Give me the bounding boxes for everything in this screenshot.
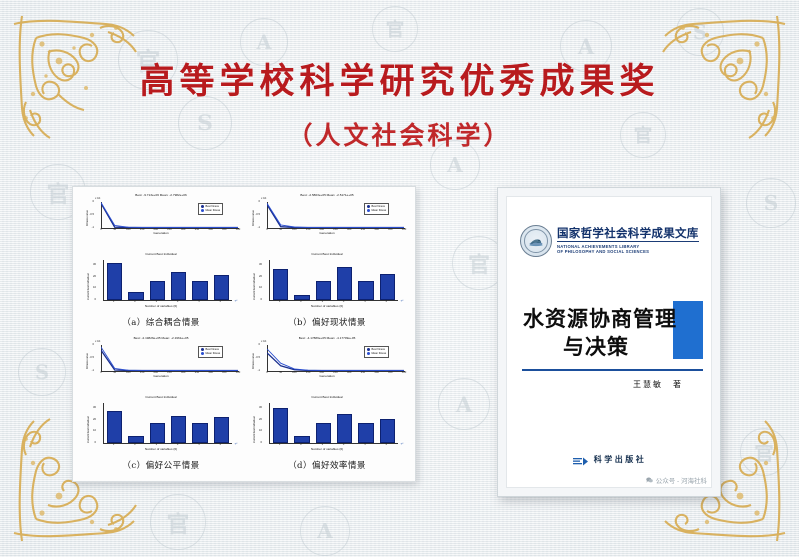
bar-x-axis-tick: 2: [134, 301, 136, 304]
bar-chart-title: Current Best Individual: [81, 253, 241, 256]
bar-x-axis-tick: 2: [300, 444, 302, 447]
background-seal-icon: S: [746, 178, 796, 228]
bar-y-axis-label: Current best individual: [253, 416, 256, 443]
paragraph-mark-icon: ↵: [401, 298, 404, 303]
bar-plot-area: [103, 260, 232, 301]
x-axis-label: Generation: [81, 375, 241, 379]
legend-item: Mean fitness: [367, 209, 386, 213]
book-author: 王慧敏 著: [633, 379, 683, 390]
bar-chart-title: Current Best Individual: [81, 396, 241, 399]
bar-x-axis-tick: 6: [386, 301, 388, 304]
bar-y-axis-label: Current best individual: [87, 273, 90, 300]
page-title: 高等学校科学研究优秀成果奖: [0, 62, 799, 102]
background-seal-icon: S: [676, 8, 724, 56]
y-axis-tick: -1: [258, 370, 260, 373]
chart-legend: Best fitnessMean fitness: [364, 346, 389, 358]
bar-x-axis-tick: 1: [279, 444, 281, 447]
bar-y-axis-tick: 30: [93, 407, 96, 410]
bar: [337, 414, 352, 443]
bar: [171, 272, 186, 300]
bar-x-axis-tick: 1: [279, 301, 281, 304]
figure-grid: Best: -9.713e+06 Mean: -2.7982e+06x 10⁷0…: [78, 191, 410, 477]
bar-y-axis-tick: 0: [261, 442, 263, 445]
publisher-row: 科学出版社: [507, 454, 711, 465]
book-title-line2: 与决策: [523, 333, 695, 361]
bar-x-axis-tick: 5: [198, 444, 200, 447]
background-seal-icon: 官: [740, 428, 788, 476]
paragraph-mark-icon: ↵: [235, 441, 238, 446]
axis-exponent: x 10⁷: [95, 197, 101, 200]
figure-cell: Best: -4.17889e+05 Mean: -4.17709e+05x 1…: [244, 334, 410, 477]
bar-y-axis-tick: 30: [259, 407, 262, 410]
bar-y-axis-tick: 30: [259, 264, 262, 267]
bar: [150, 281, 165, 300]
best-individual-bar-chart: Current Best Individual0102030123456Curr…: [81, 396, 241, 458]
legend-label: Mean fitness: [372, 352, 387, 356]
background-seal-icon: A: [240, 18, 288, 66]
watermark-text: 公众号 - 河海社科: [656, 475, 707, 485]
bar-x-axis-tick: 5: [364, 444, 366, 447]
convergence-chart-title: Best: -9.713e+06 Mean: -2.7982e+06: [81, 194, 241, 197]
bar: [273, 408, 288, 443]
book-title-underline: [522, 369, 703, 371]
bar: [358, 423, 373, 443]
y-axis-tick: -1: [258, 227, 260, 230]
series-divider: [557, 241, 699, 242]
award-slide: 官SA官AS官A官S官AS官A官: [0, 0, 799, 557]
background-seal-icon: A: [438, 378, 490, 430]
y-axis-label: Fitness value: [86, 210, 89, 226]
y-axis-tick: -0.5: [89, 357, 94, 360]
publisher-name: 科学出版社: [594, 454, 647, 465]
convergence-chart-title: Best: -2.19826e+05 Mean: -2.1961e+05: [81, 337, 241, 340]
legend-marker-icon: [201, 209, 204, 212]
y-axis-tick: 0: [93, 201, 95, 204]
bar: [107, 411, 122, 443]
axis-exponent: x 10⁷: [261, 340, 267, 343]
legend-item: Mean fitness: [201, 209, 220, 213]
bar-plot-area: [269, 260, 398, 301]
y-axis-tick: -0.5: [255, 357, 260, 360]
bar-x-axis-tick: 4: [177, 301, 179, 304]
convergence-chart: Best: -9.713e+06 Mean: -2.7982e+06x 10⁷0…: [81, 193, 241, 253]
bar: [192, 281, 207, 300]
background-seal-icon: S: [18, 348, 66, 396]
y-axis-label: Fitness value: [252, 353, 255, 369]
bar: [380, 274, 395, 300]
bar-chart-title: Current Best Individual: [247, 396, 407, 399]
bar-y-axis-tick: 10: [259, 430, 262, 433]
axis-exponent: x 10⁷: [261, 197, 267, 200]
x-axis-label: Generation: [247, 375, 407, 379]
bar-x-axis-tick: 1: [113, 301, 115, 304]
best-individual-bar-chart: Current Best Individual0102030123456Curr…: [81, 253, 241, 315]
convergence-chart: Best: -2.5803e+05 Mean: -2.5171e+05x 10⁷…: [247, 193, 407, 253]
y-axis-label: Fitness value: [252, 210, 255, 226]
figure-cell: Best: -2.5803e+05 Mean: -2.5171e+05x 10⁷…: [244, 191, 410, 334]
y-axis-tick: 0: [259, 201, 261, 204]
figure-panel: Best: -9.713e+06 Mean: -2.7982e+06x 10⁷0…: [72, 186, 416, 482]
figure-cell: Best: -9.713e+06 Mean: -2.7982e+06x 10⁷0…: [78, 191, 244, 334]
bar: [128, 292, 143, 300]
figure-caption: （b）偏好现状情景: [247, 316, 407, 328]
legend-marker-icon: [201, 352, 204, 355]
bar-y-axis-tick: 10: [93, 430, 96, 433]
bar: [273, 269, 288, 300]
paragraph-mark-icon: ↵: [235, 298, 238, 303]
series-emblem-row: 国家哲学社会科学成果文库 NATIONAL ACHIEVEMENTS LIBRA…: [520, 225, 699, 257]
paragraph-mark-icon: ↵: [401, 441, 404, 446]
bar-x-axis-tick: 6: [220, 301, 222, 304]
figure-caption: （a）综合耦合情景: [81, 316, 241, 328]
bar-x-axis-tick: 2: [134, 444, 136, 447]
best-individual-bar-chart: Current Best Individual0102030123456Curr…: [247, 253, 407, 315]
bar: [358, 281, 373, 300]
national-library-seal-icon: [520, 225, 552, 257]
axis-exponent: x 10⁷: [95, 340, 101, 343]
bar-plot-area: [269, 403, 398, 444]
bar: [107, 263, 122, 300]
background-seal-icon: 官: [372, 6, 418, 52]
figure-caption: （c）偏好公平情景: [81, 459, 241, 471]
bar-plot-area: [103, 403, 232, 444]
y-axis-tick: 0: [93, 344, 95, 347]
wechat-icon: [646, 477, 653, 483]
x-axis-label: Generation: [81, 232, 241, 236]
y-axis-tick: 0: [259, 344, 261, 347]
series-name-en-line2: OF PHILOSOPHY AND SOCIAL SCIENCES: [557, 249, 699, 255]
bar-y-axis-tick: 10: [93, 287, 96, 290]
background-seal-icon: A: [300, 506, 350, 556]
bar-x-axis-tick: 5: [364, 301, 366, 304]
bar-y-axis-tick: 20: [259, 419, 262, 422]
book-cover: 国家哲学社会科学成果文库 NATIONAL ACHIEVEMENTS LIBRA…: [506, 196, 712, 488]
convergence-chart-title: Best: -2.5803e+05 Mean: -2.5171e+05: [247, 194, 407, 197]
bar-y-axis-tick: 10: [259, 287, 262, 290]
convergence-chart: Best: -2.19826e+05 Mean: -2.1961e+05x 10…: [81, 336, 241, 396]
convergence-chart: Best: -4.17889e+05 Mean: -4.17709e+05x 1…: [247, 336, 407, 396]
book-title: 水资源协商管理 与决策: [523, 305, 695, 360]
bar-x-axis-tick: 4: [343, 301, 345, 304]
bar-y-axis-tick: 0: [95, 299, 97, 302]
bar-chart-title: Current Best Individual: [247, 253, 407, 256]
bar: [380, 419, 395, 443]
y-axis-label: Fitness value: [86, 353, 89, 369]
book-cover-panel: 国家哲学社会科学成果文库 NATIONAL ACHIEVEMENTS LIBRA…: [497, 187, 721, 497]
bar: [214, 275, 229, 300]
x-axis-label: Generation: [247, 232, 407, 236]
bar-x-axis-tick: 6: [386, 444, 388, 447]
bar-y-axis-tick: 0: [261, 299, 263, 302]
bar-y-axis-label: Current best individual: [87, 416, 90, 443]
bar-y-axis-label: Current best individual: [253, 273, 256, 300]
bar-y-axis-tick: 20: [93, 276, 96, 279]
bar-x-axis-tick: 2: [300, 301, 302, 304]
legend-item: Mean fitness: [367, 352, 386, 356]
chart-legend: Best fitnessMean fitness: [364, 203, 389, 215]
bar-x-axis-tick: 4: [343, 444, 345, 447]
bar-y-axis-tick: 30: [93, 264, 96, 267]
legend-item: Mean fitness: [201, 352, 220, 356]
bar: [316, 281, 331, 300]
bar-x-axis-tick: 1: [113, 444, 115, 447]
bar: [214, 417, 229, 443]
convergence-chart-title: Best: -4.17889e+05 Mean: -4.17709e+05: [247, 337, 407, 340]
y-axis-tick: -1: [92, 370, 94, 373]
legend-label: Mean fitness: [206, 352, 221, 356]
y-axis-tick: -0.5: [255, 214, 260, 217]
best-individual-bar-chart: Current Best Individual0102030123456Curr…: [247, 396, 407, 458]
bar: [337, 267, 352, 300]
chart-legend: Best fitnessMean fitness: [198, 203, 223, 215]
bar-x-axis-tick: 6: [220, 444, 222, 447]
chart-legend: Best fitnessMean fitness: [198, 346, 223, 358]
legend-label: Mean fitness: [372, 209, 387, 213]
legend-label: Mean fitness: [206, 209, 221, 213]
y-axis-tick: -0.5: [89, 214, 94, 217]
background-seal-icon: 官: [150, 494, 206, 550]
bar-x-axis-tick: 5: [198, 301, 200, 304]
bar-y-axis-tick: 20: [259, 276, 262, 279]
source-watermark: 公众号 - 河海社科: [646, 475, 707, 485]
legend-marker-icon: [367, 209, 370, 212]
page-subtitle: （人文社会科学）: [0, 116, 799, 152]
bar: [316, 423, 331, 443]
figure-caption: （d）偏好效率情景: [247, 459, 407, 471]
bar-y-axis-tick: 20: [93, 419, 96, 422]
bar: [171, 416, 186, 443]
legend-marker-icon: [367, 352, 370, 355]
bar-x-axis-tick: 4: [177, 444, 179, 447]
figure-cell: Best: -2.19826e+05 Mean: -2.1961e+05x 10…: [78, 334, 244, 477]
series-name-cn: 国家哲学社会科学成果文库: [557, 227, 699, 240]
bar-x-axis-label: Number of variables (6): [247, 305, 407, 309]
bar: [150, 423, 165, 443]
bar: [192, 423, 207, 443]
book-title-line1: 水资源协商管理: [523, 305, 695, 333]
science-press-logo-icon: [572, 454, 589, 465]
title-block: 高等学校科学研究优秀成果奖 （人文社会科学）: [0, 62, 799, 152]
series-emblem-text: 国家哲学社会科学成果文库 NATIONAL ACHIEVEMENTS LIBRA…: [557, 227, 699, 255]
bar-x-axis-label: Number of variables (6): [81, 448, 241, 452]
bar-x-axis-label: Number of variables (6): [81, 305, 241, 309]
bar-y-axis-tick: 0: [95, 442, 97, 445]
bar-x-axis-label: Number of variables (6): [247, 448, 407, 452]
y-axis-tick: -1: [92, 227, 94, 230]
